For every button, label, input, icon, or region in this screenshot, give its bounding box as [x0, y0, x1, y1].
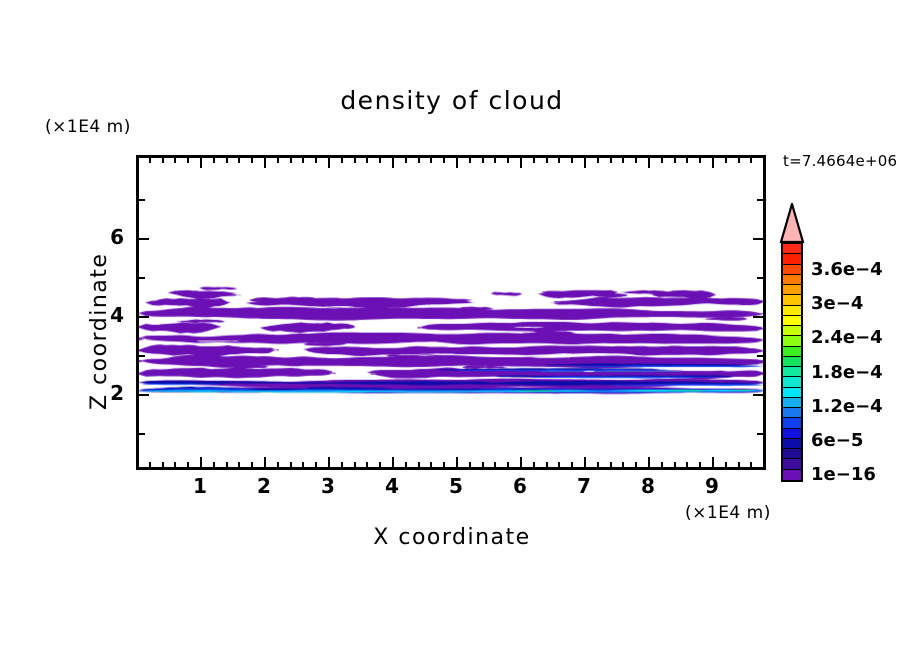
colorbar-band — [783, 429, 801, 439]
x-axis-minor-tick-top — [354, 158, 356, 163]
x-axis-minor-tick-top — [162, 158, 164, 163]
x-axis-tick-label: 8 — [628, 474, 668, 498]
x-axis-minor-tick — [315, 462, 317, 467]
y-axis-major-tick-right — [753, 394, 763, 396]
x-axis-unit-label: (×1E4 m) — [685, 503, 771, 523]
y-axis-minor-tick-right — [757, 277, 763, 279]
x-axis-major-tick — [648, 457, 650, 467]
colorbar-band — [783, 408, 801, 418]
x-axis-minor-tick-top — [622, 158, 624, 163]
colorbar-band — [783, 244, 801, 254]
x-axis-minor-tick-top — [315, 158, 317, 163]
x-axis-minor-tick-top — [238, 158, 240, 163]
x-axis-minor-tick — [226, 462, 228, 467]
x-axis-tick-label: 5 — [436, 474, 476, 498]
x-axis-major-tick-top — [712, 158, 714, 168]
x-axis-minor-tick — [149, 462, 151, 467]
x-axis-tick-label: 6 — [500, 474, 540, 498]
x-axis-minor-tick — [187, 462, 189, 467]
x-axis-minor-tick-top — [187, 158, 189, 163]
colorbar-band — [783, 285, 801, 295]
x-axis-major-tick — [712, 457, 714, 467]
x-axis-minor-tick — [405, 462, 407, 467]
x-axis-minor-tick-top — [226, 158, 228, 163]
x-axis-minor-tick — [674, 462, 676, 467]
x-axis-major-tick — [328, 457, 330, 467]
x-axis-minor-tick-top — [533, 158, 535, 163]
colorbar-band — [783, 398, 801, 408]
x-axis-minor-tick — [610, 462, 612, 467]
x-axis-tick-label: 1 — [180, 474, 220, 498]
x-axis-minor-tick — [174, 462, 176, 467]
x-axis-minor-tick-top — [366, 158, 368, 163]
colorbar-tick-label: 3.6e−4 — [811, 259, 883, 280]
x-axis-minor-tick-top — [469, 158, 471, 163]
x-axis-minor-tick-top — [597, 158, 599, 163]
colorbar-tick-label: 3e−4 — [811, 293, 863, 314]
x-axis-minor-tick — [635, 462, 637, 467]
x-axis-minor-tick — [251, 462, 253, 467]
x-axis-minor-tick-top — [482, 158, 484, 163]
x-axis-minor-tick-top — [443, 158, 445, 163]
x-axis-minor-tick-top — [763, 158, 765, 163]
x-axis-minor-tick-top — [610, 158, 612, 163]
y-axis-major-tick-right — [753, 316, 763, 318]
x-axis-minor-tick-top — [405, 158, 407, 163]
colorbar-bands — [781, 242, 803, 482]
x-axis-major-tick-top — [648, 158, 650, 168]
colorbar-band — [783, 336, 801, 346]
y-axis-minor-tick — [139, 433, 145, 435]
x-axis-minor-tick-top — [686, 158, 688, 163]
y-axis-minor-tick-right — [757, 355, 763, 357]
x-axis-minor-tick — [366, 462, 368, 467]
colorbar-tick-label: 6e−5 — [811, 430, 863, 451]
y-axis-tick-label: 4 — [84, 303, 124, 327]
x-axis-tick-label: 7 — [564, 474, 604, 498]
x-axis-minor-tick-top — [507, 158, 509, 163]
x-axis-minor-tick — [750, 462, 752, 467]
colorbar-band — [783, 275, 801, 285]
x-axis-major-tick — [584, 457, 586, 467]
y-axis-minor-tick — [139, 277, 145, 279]
x-axis-minor-tick — [302, 462, 304, 467]
x-axis-minor-tick-top — [571, 158, 573, 163]
colorbar-band — [783, 377, 801, 387]
y-axis-major-tick-right — [753, 238, 763, 240]
x-axis-minor-tick-top — [149, 158, 151, 163]
x-axis-minor-tick-top — [674, 158, 676, 163]
colorbar-band — [783, 254, 801, 264]
contour-plot-canvas — [139, 158, 763, 467]
x-axis-minor-tick-top — [661, 158, 663, 163]
x-axis-minor-tick-top — [738, 158, 740, 163]
y-axis-minor-tick — [139, 199, 145, 201]
colorbar-band — [783, 306, 801, 316]
x-axis-minor-tick-top — [546, 158, 548, 163]
y-axis-unit-label: (×1E4 m) — [45, 117, 131, 137]
x-axis-minor-tick — [238, 462, 240, 467]
x-axis-major-tick-top — [264, 158, 266, 168]
x-axis-major-tick-top — [392, 158, 394, 168]
plot-area — [136, 155, 766, 470]
y-axis-major-tick — [139, 238, 149, 240]
x-axis-minor-tick — [213, 462, 215, 467]
x-axis-minor-tick-top — [341, 158, 343, 163]
x-axis-minor-tick — [597, 462, 599, 467]
x-axis-tick-label: 3 — [308, 474, 348, 498]
y-axis-tick-label: 2 — [84, 381, 124, 405]
x-axis-major-tick-top — [328, 158, 330, 168]
x-axis-minor-tick-top — [750, 158, 752, 163]
colorbar-band — [783, 265, 801, 275]
x-axis-minor-tick — [699, 462, 701, 467]
x-axis-major-tick-top — [200, 158, 202, 168]
colorbar-band — [783, 459, 801, 469]
x-axis-minor-tick-top — [277, 158, 279, 163]
x-axis-major-tick-top — [456, 158, 458, 168]
x-axis-minor-tick — [558, 462, 560, 467]
x-axis-minor-tick — [763, 462, 765, 467]
colorbar-tick-label: 1.2e−4 — [811, 396, 883, 417]
x-axis-title: X coordinate — [0, 525, 904, 550]
x-axis-minor-tick-top — [699, 158, 701, 163]
x-axis-minor-tick — [494, 462, 496, 467]
x-axis-major-tick — [392, 457, 394, 467]
x-axis-minor-tick-top — [635, 158, 637, 163]
x-axis-minor-tick — [725, 462, 727, 467]
x-axis-minor-tick — [482, 462, 484, 467]
y-axis-minor-tick-right — [757, 199, 763, 201]
x-axis-minor-tick — [354, 462, 356, 467]
x-axis-minor-tick — [686, 462, 688, 467]
x-axis-minor-tick-top — [290, 158, 292, 163]
x-axis-major-tick — [520, 457, 522, 467]
colorbar-band — [783, 418, 801, 428]
y-axis-minor-tick — [139, 355, 145, 357]
x-axis-minor-tick-top — [430, 158, 432, 163]
x-axis-minor-tick — [571, 462, 573, 467]
time-annotation: t=7.4664e+06 — [783, 152, 897, 170]
x-axis-major-tick — [264, 457, 266, 467]
figure-canvas: density of cloud (×1E4 m) (×1E4 m) t=7.4… — [0, 0, 904, 654]
x-axis-minor-tick-top — [725, 158, 727, 163]
x-axis-minor-tick — [162, 462, 164, 467]
x-axis-minor-tick-top — [379, 158, 381, 163]
colorbar-band — [783, 295, 801, 305]
x-axis-tick-label: 9 — [692, 474, 732, 498]
x-axis-major-tick — [200, 457, 202, 467]
x-axis-minor-tick — [277, 462, 279, 467]
colorbar-band — [783, 347, 801, 357]
x-axis-minor-tick-top — [494, 158, 496, 163]
colorbar-tick-label: 1.8e−4 — [811, 362, 883, 383]
colorbar-band — [783, 357, 801, 367]
colorbar-band — [783, 388, 801, 398]
colorbar-band — [783, 326, 801, 336]
x-axis-minor-tick — [738, 462, 740, 467]
colorbar-band — [783, 316, 801, 326]
y-axis-major-tick — [139, 316, 149, 318]
x-axis-tick-label: 2 — [244, 474, 284, 498]
page-title: density of cloud — [0, 86, 904, 115]
x-axis-minor-tick-top — [302, 158, 304, 163]
x-axis-minor-tick — [622, 462, 624, 467]
x-axis-minor-tick — [341, 462, 343, 467]
x-axis-minor-tick-top — [558, 158, 560, 163]
y-axis-major-tick — [139, 394, 149, 396]
x-axis-tick-label: 4 — [372, 474, 412, 498]
x-axis-minor-tick — [661, 462, 663, 467]
y-axis-minor-tick-right — [757, 433, 763, 435]
y-axis-tick-label: 6 — [84, 225, 124, 249]
x-axis-minor-tick — [290, 462, 292, 467]
x-axis-minor-tick — [469, 462, 471, 467]
x-axis-minor-tick-top — [251, 158, 253, 163]
colorbar-band — [783, 439, 801, 449]
x-axis-minor-tick-top — [213, 158, 215, 163]
x-axis-minor-tick — [533, 462, 535, 467]
colorbar-arrow-icon — [779, 203, 805, 243]
colorbar-tick-label: 2.4e−4 — [811, 327, 883, 348]
colorbar-tick-label: 1e−16 — [811, 464, 876, 485]
colorbar-band — [783, 449, 801, 459]
x-axis-minor-tick — [443, 462, 445, 467]
x-axis-major-tick — [456, 457, 458, 467]
x-axis-major-tick-top — [520, 158, 522, 168]
x-axis-minor-tick — [379, 462, 381, 467]
x-axis-minor-tick — [507, 462, 509, 467]
colorbar-band — [783, 367, 801, 377]
x-axis-minor-tick — [430, 462, 432, 467]
x-axis-minor-tick-top — [418, 158, 420, 163]
colorbar-band — [783, 470, 801, 480]
x-axis-minor-tick-top — [174, 158, 176, 163]
x-axis-major-tick-top — [584, 158, 586, 168]
x-axis-minor-tick — [418, 462, 420, 467]
x-axis-minor-tick — [546, 462, 548, 467]
